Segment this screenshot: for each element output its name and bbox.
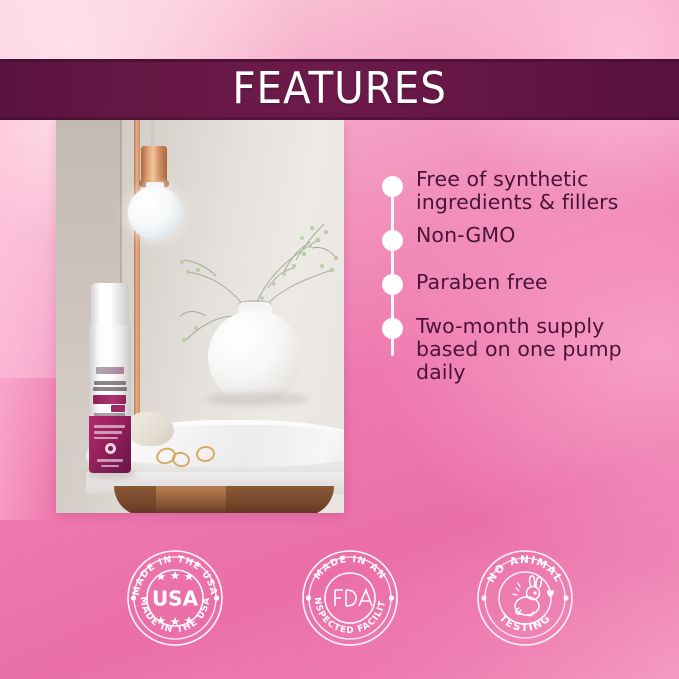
feature-text: Paraben free bbox=[416, 271, 641, 294]
features-banner: FEATURES bbox=[0, 59, 679, 120]
feature-text: Two-month supply based on one pump daily bbox=[416, 315, 641, 384]
product-bottle bbox=[89, 283, 131, 473]
feature-text: Non-GMO bbox=[416, 224, 641, 247]
feature-item: Free of synthetic ingredients & fillers bbox=[378, 168, 648, 224]
badge-top-text: MADE IN AN bbox=[312, 554, 388, 582]
background-edge-left bbox=[0, 120, 58, 520]
bottle-label-natural bbox=[94, 381, 126, 385]
fda-logo-icon bbox=[335, 590, 372, 606]
bottle-label-text-line bbox=[94, 437, 118, 439]
svg-text:NO ANIMAL: NO ANIMAL bbox=[485, 554, 565, 585]
page-title: FEATURES bbox=[232, 67, 447, 111]
bottle-label-netweight bbox=[101, 465, 119, 467]
feature-item: Paraben free bbox=[378, 271, 648, 315]
feature-text: Free of synthetic ingredients & fillers bbox=[416, 168, 641, 214]
bullet-dot-icon bbox=[382, 176, 403, 197]
features-list: Free of synthetic ingredients & fillers … bbox=[378, 168, 648, 395]
bottle-brand-mark bbox=[96, 367, 124, 374]
feature-item: Two-month supply based on one pump daily bbox=[378, 315, 648, 395]
bottle-label-text-line bbox=[94, 431, 122, 434]
bullet-dot-icon bbox=[382, 318, 403, 339]
bottle-label-strength bbox=[111, 405, 125, 412]
bottle-label-bioidentical bbox=[93, 387, 127, 391]
svg-text:MADE IN AN: MADE IN AN bbox=[312, 554, 388, 582]
made-in-usa-badge: MADE IN THE USA MADE IN THE USA USA bbox=[125, 548, 225, 648]
bottle-label-text-line bbox=[94, 425, 125, 428]
lifestyle-photo bbox=[56, 120, 344, 513]
badge-center-text: USA bbox=[152, 587, 199, 611]
badge-top-text: NO ANIMAL bbox=[485, 554, 565, 585]
bottle-label-text-line bbox=[97, 459, 123, 462]
feature-item: Non-GMO bbox=[378, 224, 648, 271]
rabbit-icon bbox=[513, 576, 541, 616]
bullet-dot-icon bbox=[382, 230, 403, 251]
decor-coral bbox=[128, 412, 174, 446]
white-vase bbox=[208, 310, 302, 404]
fda-inspected-facility-badge: MADE IN AN INSPECTED FACILITY bbox=[300, 548, 400, 648]
bullet-dot-icon bbox=[382, 274, 403, 295]
bottle-label-estriol bbox=[93, 395, 126, 404]
no-animal-testing-badge: NO ANIMAL TESTING bbox=[475, 548, 575, 648]
bottle-pump-cap bbox=[91, 283, 129, 325]
vase-shadow bbox=[206, 392, 308, 406]
bottle-label-seal bbox=[105, 443, 116, 454]
bottle-label-subtitle bbox=[94, 413, 125, 416]
table-wood-highlight bbox=[156, 486, 226, 513]
